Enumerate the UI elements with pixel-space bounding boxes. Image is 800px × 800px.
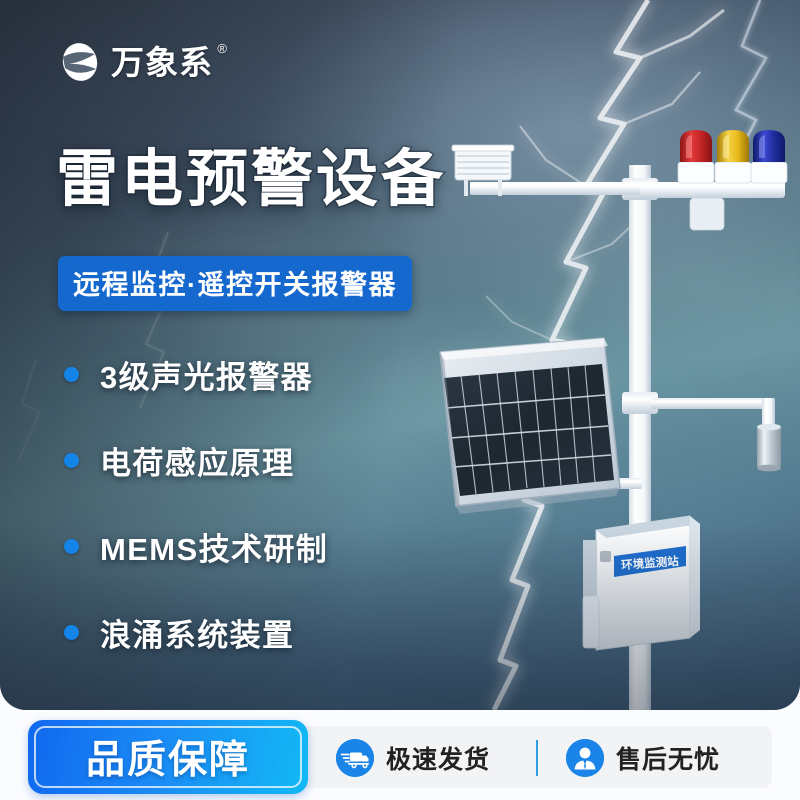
service-item-fast-shipping[interactable]: 极速发货 — [336, 739, 490, 777]
bullet-dot-icon — [64, 367, 79, 382]
service-label: 售后无忧 — [616, 740, 720, 776]
product-poster: 环境监测站 万象系® 雷电预警设备 远程监控·遥控开关报警器 3级声光报警器 — [0, 0, 800, 800]
hero-background: 环境监测站 万象系® 雷电预警设备 远程监控·遥控开关报警器 3级声光报警器 — [0, 0, 800, 710]
feature-label: 电荷感应原理 — [100, 438, 294, 483]
bullet-dot-icon — [64, 625, 79, 640]
service-label: 极速发货 — [386, 740, 490, 776]
page-title: 雷电预警设备 — [56, 148, 446, 212]
subtitle-badge: 远程监控·遥控开关报警器 — [58, 256, 412, 311]
feature-label: MEMS技术研制 — [100, 524, 328, 569]
feature-item-0: 3级声光报警器 — [64, 344, 328, 404]
brand-name-text: 万象系 — [111, 44, 213, 81]
bullet-dot-icon — [64, 453, 79, 468]
delivery-truck-icon — [336, 739, 374, 777]
customer-service-person-icon — [566, 739, 604, 777]
bullet-dot-icon — [64, 539, 79, 554]
feature-label: 3级声光报警器 — [100, 352, 313, 397]
footer-divider — [536, 740, 538, 776]
globe-swirl-logo-icon — [58, 40, 102, 84]
feature-list: 3级声光报警器 电荷感应原理 MEMS技术研制 浪涌系统装置 — [64, 344, 328, 688]
feature-item-3: 浪涌系统装置 — [64, 602, 328, 662]
brand-logo: 万象系® — [58, 40, 213, 84]
feature-item-2: MEMS技术研制 — [64, 516, 328, 576]
service-item-after-sales[interactable]: 售后无忧 — [566, 739, 720, 777]
quality-badge-border: 品质保障 — [34, 726, 302, 788]
footer-trust-bar: 品质保障 — [0, 712, 800, 800]
brand-name: 万象系® — [111, 46, 213, 79]
quality-badge-label: 品质保障 — [86, 729, 250, 785]
feature-label: 浪涌系统装置 — [100, 610, 294, 655]
trademark-symbol: ® — [217, 42, 228, 55]
quality-guarantee-badge[interactable]: 品质保障 — [28, 720, 308, 794]
feature-item-1: 电荷感应原理 — [64, 430, 328, 490]
